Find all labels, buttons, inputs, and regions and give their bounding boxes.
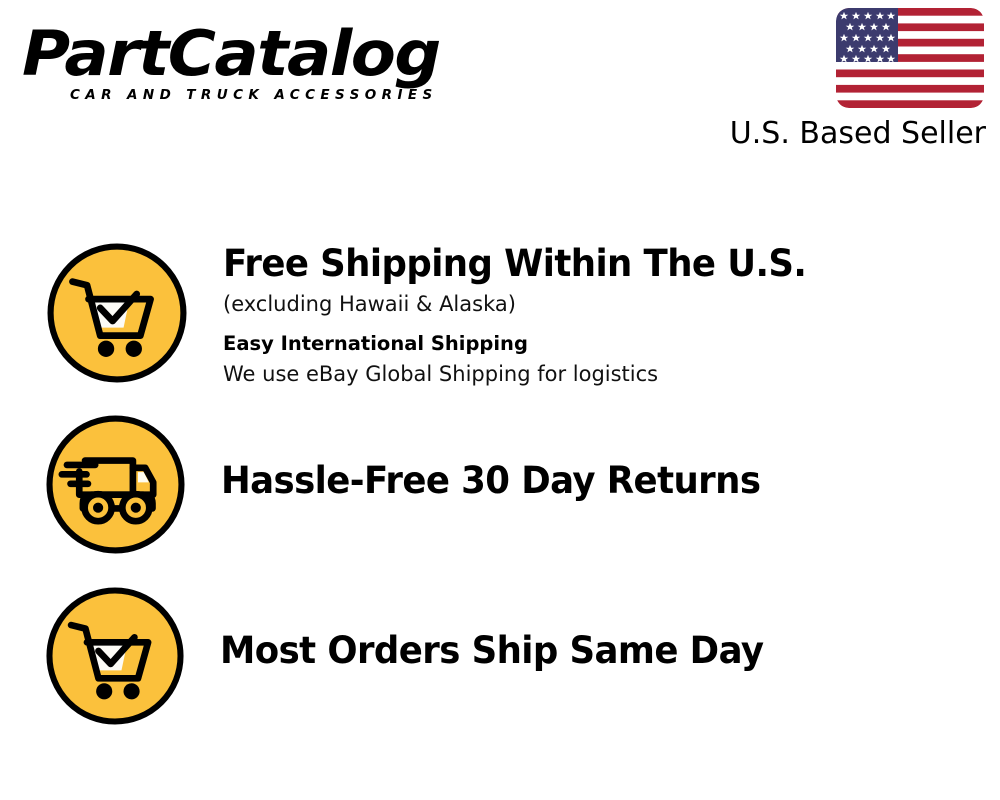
feature-text-same-day: Most Orders Ship Same Day xyxy=(220,584,1000,674)
feature-heading: Free Shipping Within The U.S. xyxy=(223,240,969,287)
feature-row-returns: Hassle-Free 30 Day Returns xyxy=(0,412,1000,574)
shopping-cart-check-icon xyxy=(44,240,190,386)
us-based-seller-label: U.S. Based Seller xyxy=(716,116,986,152)
feature-heading: Most Orders Ship Same Day xyxy=(220,628,969,674)
us-flag-icon xyxy=(836,8,984,108)
feature-subtext: (excluding Hawaii & Alaska) xyxy=(223,289,1000,319)
feature-subheading-international: Easy International Shipping xyxy=(223,329,1000,359)
us-based-seller-badge: U.S. Based Seller xyxy=(716,8,986,152)
page-header: PartCatalog CAR AND TRUCK ACCESSORIES xyxy=(0,0,1000,170)
feature-row-free-shipping: Free Shipping Within The U.S. (excluding… xyxy=(0,240,1000,405)
brand-logo[interactable]: PartCatalog CAR AND TRUCK ACCESSORIES xyxy=(22,22,492,117)
brand-wordmark: PartCatalog xyxy=(22,22,520,86)
feature-text-free-shipping: Free Shipping Within The U.S. (excluding… xyxy=(223,240,1000,389)
feature-row-same-day: Most Orders Ship Same Day xyxy=(0,584,1000,744)
feature-subtext-logistics: We use eBay Global Shipping for logistic… xyxy=(223,359,1000,389)
delivery-truck-icon xyxy=(43,412,188,557)
feature-heading: Hassle-Free 30 Day Returns xyxy=(221,458,969,504)
shopping-cart-check-icon xyxy=(43,584,187,728)
feature-text-returns: Hassle-Free 30 Day Returns xyxy=(221,412,1000,504)
